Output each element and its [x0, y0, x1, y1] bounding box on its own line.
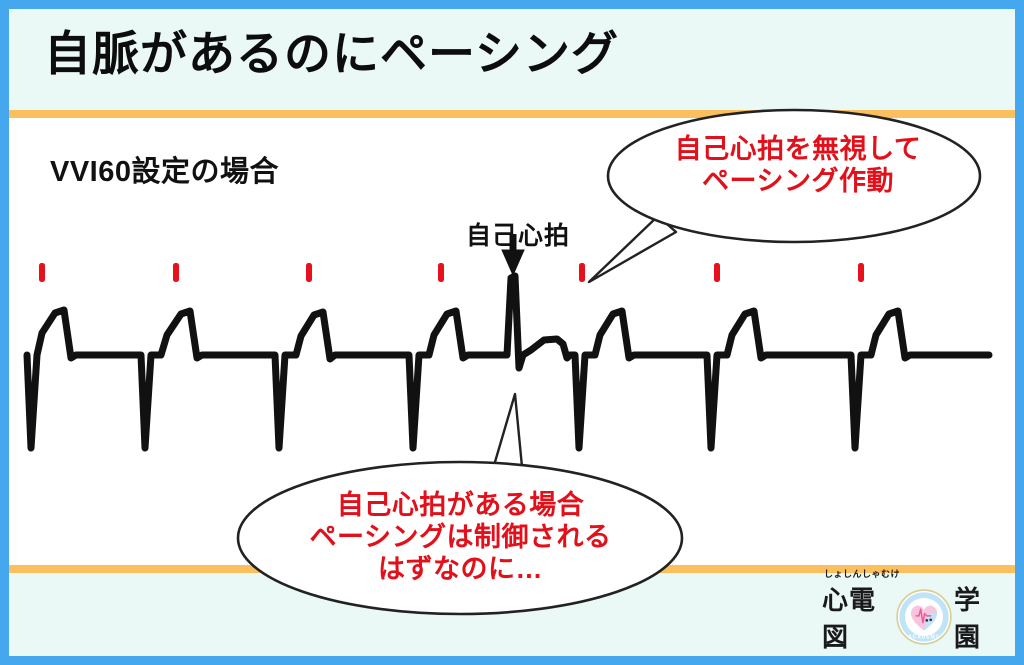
- callout-pacing-should-inhibit: 自己心拍がある場合 ペーシングは制御される はずなのに…: [233, 458, 688, 616]
- badge-academy-text: ACADEMY: [908, 634, 940, 640]
- setting-subtitle: VVI60設定の場合: [50, 148, 279, 190]
- pacing-spike-marker: [39, 263, 45, 282]
- logo-word-right: 学園: [954, 580, 1002, 654]
- page-title: 自脈があるのにペーシング: [44, 26, 619, 82]
- native-beat-label: 自己心拍: [466, 216, 570, 252]
- logo-word-left-text: 心電図: [822, 585, 876, 652]
- callout-tail-top: [589, 216, 676, 282]
- callout-bottom-text: 自己心拍がある場合 ペーシングは制御される はずなのに…: [233, 490, 688, 586]
- logo-word-left: しょしんしゃむけ 心電図: [822, 580, 894, 654]
- logo-word-right-text: 学園: [954, 585, 981, 652]
- slide-root: 自脈があるのにペーシング VVI60設定の場合 自己心拍 自己心拍を無視して ペ…: [0, 0, 1024, 665]
- logo-furigana: しょしんしゃむけ: [824, 567, 900, 580]
- academy-badge-icon: ACADEMY: [896, 589, 952, 645]
- brand-logo: しょしんしゃむけ 心電図 ACADEMY 学園: [822, 586, 1002, 648]
- pacing-spike-marker: [306, 263, 312, 282]
- pacing-spike-marker: [438, 263, 444, 282]
- callout-top-text: 自己心拍を無視して ペーシング作動: [598, 134, 998, 198]
- callout-pacing-ignores-native: 自己心拍を無視して ペーシング作動: [598, 104, 998, 252]
- pacing-spike-marker: [173, 263, 179, 282]
- pacing-spike-marker: [579, 263, 585, 282]
